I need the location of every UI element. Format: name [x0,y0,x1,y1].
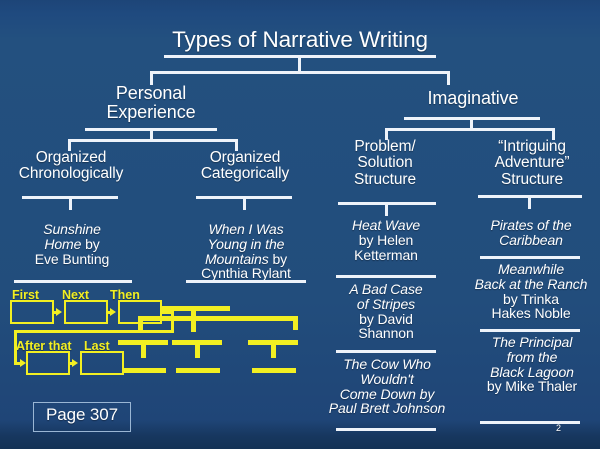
flowchart-box-1 [10,300,54,324]
separator-a-bad-case-of-stripes [336,350,436,353]
separator-sunshine-home [14,280,132,283]
branch-heading-personal-experience: Personal Experience [58,84,244,122]
flowchart-arrow-icon-1 [56,308,62,316]
flowchart-arrow-icon-2 [110,308,116,316]
category-web-branch-1-stem [141,340,146,358]
connector-root-drop-right [447,71,450,85]
connector-chronologically-stem [69,196,72,210]
slide-canvas: Types of Narrative Writing Personal Expe… [0,0,600,449]
flowchart-wrap-segment-4 [14,330,17,364]
separator-pirates-of-the-caribbean [480,256,580,259]
book-example-the-principal-from-the-black-lagoon: The Principal from the Black Lagoon by M… [468,335,596,394]
slide-number: 2 [556,424,576,434]
heading-organized-categorically: Organized Categorically [180,150,310,183]
flowchart-box-4 [26,351,70,375]
connector-personal-bar [68,139,238,142]
book-example-when-i-was-young: When I Was Young in the Mountains by Cyn… [178,222,314,281]
book-example-pirates-of-the-caribbean: Pirates of the Caribbean [468,218,594,248]
page-reference-label: Page 307 [33,406,131,424]
flowchart-box-2 [64,300,108,324]
flowchart-wrap-segment-3 [14,330,174,333]
connector-imaginative-bar [385,128,555,131]
heading-intriguing-adventure-structure: “Intriguing Adventure” Structure [470,139,594,188]
branch-heading-imaginative: Imaginative [378,89,568,108]
book-example-meanwhile-back-at-the-ranch: Meanwhile Back at the Ranch by Trinka Ha… [462,262,600,321]
flowchart-arrow-icon-3 [20,359,26,367]
separator-when-i-was-young [186,280,306,283]
category-web-bar [138,316,298,321]
connector-categorically-stem [243,196,246,210]
flowchart-box-5 [80,351,124,375]
book-example-sunshine-home: Sunshine Home by Eve Bunting [4,222,140,266]
separator-meanwhile-back-at-the-ranch [480,329,580,332]
connector-root-bar [150,71,450,74]
separator-the-cow-who-wouldnt-come-down [336,428,436,431]
category-web-drop-left [138,316,143,330]
category-web-drop-right [293,316,298,330]
category-web-branch-2-stem [195,340,200,358]
book-example-a-bad-case-of-stripes: A Bad Case of Stripes by David Shannon [328,282,444,341]
category-web-branch-3-stem [271,340,276,358]
category-web-branch-1-bottom [122,368,166,373]
book-example-the-cow-who-wouldnt-come-down: The Cow Who Wouldn't Come Down by Paul B… [320,357,454,416]
connector-problem-solution-stem [385,202,388,216]
category-web-branch-2-bottom [176,368,220,373]
separator-heat-wave [336,275,436,278]
heading-problem-solution-structure: Problem/ Solution Structure [330,139,440,188]
category-web-branch-3-bottom [252,368,296,373]
connector-intriguing-adventure-stem [528,195,531,209]
heading-organized-chronologically: Organized Chronologically [6,150,136,183]
flowchart-arrow-icon-4 [72,359,78,367]
book-example-heat-wave: Heat Wave by Helen Ketterman [330,218,442,262]
page-title: Types of Narrative Writing [0,28,600,52]
